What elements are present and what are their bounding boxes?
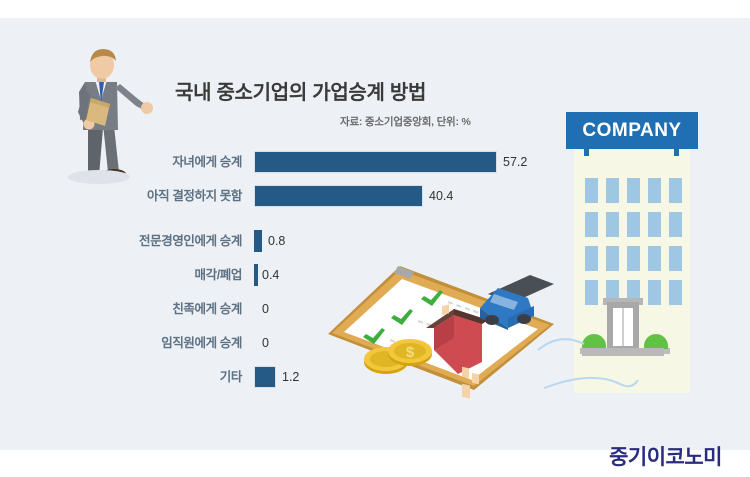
chart-row-label: 전문경영인에게 승계 bbox=[0, 228, 242, 254]
chart-row-label: 아직 결정하지 못함 bbox=[0, 183, 242, 209]
company-building-illustration: COMPANY bbox=[556, 112, 706, 397]
site-logo[interactable]: 중기이코노미 bbox=[609, 441, 722, 471]
chart-bar bbox=[254, 151, 497, 173]
building-window bbox=[585, 178, 598, 203]
chart-row: 전문경영인에게 승계 0.8 bbox=[0, 228, 560, 254]
chart-row-value: 1.2 bbox=[282, 364, 299, 390]
chart-row-value: 0 bbox=[262, 296, 269, 322]
building-window bbox=[648, 246, 661, 271]
sign-leg-right bbox=[674, 149, 679, 156]
building-window bbox=[627, 246, 640, 271]
building-window bbox=[669, 212, 682, 237]
chart-row-label: 자녀에게 승계 bbox=[0, 149, 242, 175]
walkway-path bbox=[536, 302, 686, 397]
infographic-root: 국내 중소기업의 가업승계 방법 자료: 중소기업중앙회, 단위: % 자녀에게… bbox=[0, 0, 750, 477]
building-window bbox=[648, 178, 661, 203]
building-window bbox=[669, 246, 682, 271]
chart-bar bbox=[254, 185, 423, 207]
chart-row-value: 57.2 bbox=[503, 149, 527, 175]
building-window bbox=[669, 178, 682, 203]
clipboard-illustration: $ bbox=[322, 262, 562, 407]
building-window bbox=[606, 212, 619, 237]
building-window bbox=[585, 212, 598, 237]
company-sign-label: COMPANY bbox=[566, 112, 698, 149]
chart-bar bbox=[254, 230, 262, 252]
chart-bar bbox=[254, 366, 276, 388]
building-window bbox=[648, 212, 661, 237]
chart-row-value: 0 bbox=[262, 330, 269, 356]
chart-row-value: 0.8 bbox=[268, 228, 285, 254]
company-sign: COMPANY bbox=[566, 112, 698, 149]
building-window bbox=[585, 246, 598, 271]
building-window bbox=[627, 212, 640, 237]
svg-text:$: $ bbox=[406, 344, 415, 361]
chart-bar bbox=[254, 264, 258, 286]
chart-row-label: 기타 bbox=[0, 364, 242, 390]
sign-leg-left bbox=[584, 149, 589, 156]
clipboard-svg: $ bbox=[322, 262, 562, 407]
chart-row-label: 매각/폐업 bbox=[0, 262, 242, 288]
building-window bbox=[606, 178, 619, 203]
chart-row: 자녀에게 승계 57.2 bbox=[0, 149, 560, 175]
chart-row-value: 40.4 bbox=[429, 183, 453, 209]
chart-row-label: 친족에게 승계 bbox=[0, 296, 242, 322]
chart-row-value: 0.4 bbox=[262, 262, 279, 288]
building-window bbox=[606, 246, 619, 271]
building-window bbox=[627, 178, 640, 203]
chart-row-label: 임직원에게 승계 bbox=[0, 330, 242, 356]
chart-row: 아직 결정하지 못함 40.4 bbox=[0, 183, 560, 209]
